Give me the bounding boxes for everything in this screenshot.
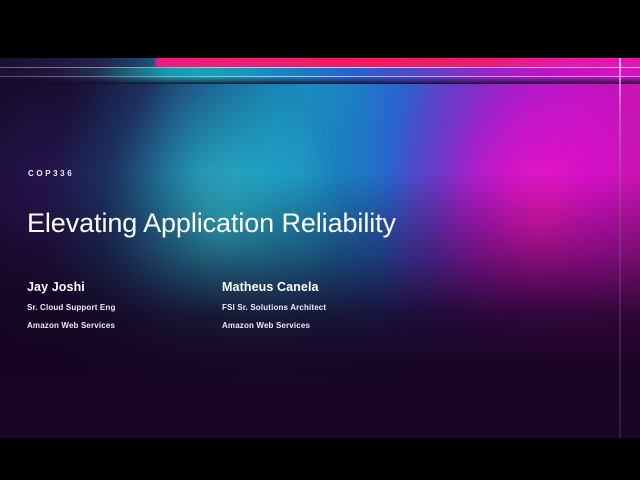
speaker-organization: Amazon Web Services — [222, 321, 417, 330]
speaker-organization: Amazon Web Services — [27, 321, 222, 330]
speaker-role: Sr. Cloud Support Eng — [27, 303, 222, 312]
speaker-1: Jay Joshi Sr. Cloud Support Eng Amazon W… — [27, 280, 222, 330]
speaker-role: FSI Sr. Solutions Architect — [222, 303, 417, 312]
letterbox-top — [0, 0, 640, 58]
session-code: COP336 — [28, 169, 74, 178]
speaker-name: Jay Joshi — [27, 280, 222, 294]
presentation-slide: COP336 Elevating Application Reliability… — [0, 58, 640, 438]
page-title: Elevating Application Reliability — [27, 208, 396, 239]
speaker-name: Matheus Canela — [222, 280, 417, 294]
slide-content: COP336 Elevating Application Reliability… — [0, 58, 640, 438]
speaker-list: Jay Joshi Sr. Cloud Support Eng Amazon W… — [27, 280, 607, 330]
slide-stage: COP336 Elevating Application Reliability… — [0, 0, 640, 480]
speaker-2: Matheus Canela FSI Sr. Solutions Archite… — [222, 280, 417, 330]
letterbox-bottom — [0, 438, 640, 480]
